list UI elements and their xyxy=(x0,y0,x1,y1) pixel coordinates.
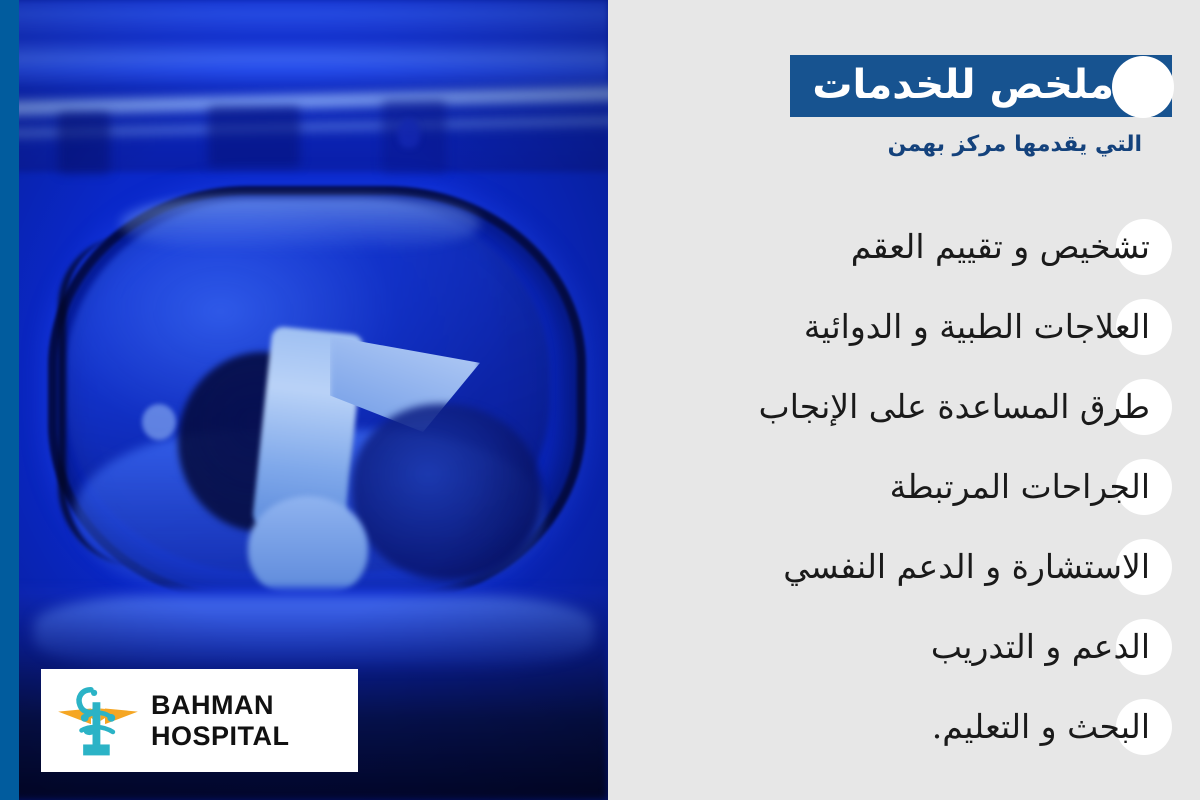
poster-canvas: BAHMAN HOSPITAL ملخص للخدمات التي يقدمها… xyxy=(0,0,1200,800)
list-item: الجراحات المرتبطة xyxy=(642,452,1172,522)
page-subtitle: التي يقدمها مركز بهمن xyxy=(638,132,1172,157)
title-circle-accent xyxy=(1112,56,1174,118)
list-item: طرق المساعدة على الإنجاب xyxy=(642,372,1172,442)
incubator-tubing xyxy=(58,236,206,566)
logo-line-1: BAHMAN xyxy=(151,690,290,720)
service-label: البحث و التعليم. xyxy=(642,706,1172,748)
service-label: الدعم و التدريب xyxy=(642,626,1172,668)
logo-wordmark: BAHMAN HOSPITAL xyxy=(151,690,290,750)
incubator-bedsheet xyxy=(34,596,594,668)
header: ملخص للخدمات التي يقدمها مركز بهمن xyxy=(638,50,1172,180)
caduceus-wing-emblem xyxy=(55,681,141,761)
list-item: البحث و التعليم. xyxy=(642,692,1172,762)
services-list: تشخيص و تقييم العقم العلاجات الطبية و ال… xyxy=(642,212,1172,772)
list-item: العلاجات الطبية و الدوائية xyxy=(642,292,1172,362)
list-item: الاستشارة و الدعم النفسي xyxy=(642,532,1172,602)
service-label: طرق المساعدة على الإنجاب xyxy=(642,386,1172,428)
list-item: تشخيص و تقييم العقم xyxy=(642,212,1172,282)
services-content-panel: ملخص للخدمات التي يقدمها مركز بهمن تشخيص… xyxy=(618,0,1200,800)
infant-swaddle xyxy=(248,496,368,600)
service-label: العلاجات الطبية و الدوائية xyxy=(642,306,1172,348)
equipment-knob xyxy=(398,118,420,148)
incubator-photo-panel: BAHMAN HOSPITAL xyxy=(0,0,608,800)
equipment-port-center xyxy=(208,106,300,168)
list-item: الدعم و التدريب xyxy=(642,612,1172,682)
infant-body xyxy=(352,404,542,580)
equipment-port-left xyxy=(58,112,110,174)
photo-left-border xyxy=(0,0,19,800)
service-label: تشخيص و تقييم العقم xyxy=(642,226,1172,268)
service-label: الاستشارة و الدعم النفسي xyxy=(642,546,1172,588)
title-row: ملخص للخدمات xyxy=(638,50,1172,122)
hospital-logo: BAHMAN HOSPITAL xyxy=(41,669,358,772)
logo-line-2: HOSPITAL xyxy=(151,721,290,751)
service-label: الجراحات المرتبطة xyxy=(642,466,1172,508)
incubator-sensor xyxy=(142,404,176,440)
